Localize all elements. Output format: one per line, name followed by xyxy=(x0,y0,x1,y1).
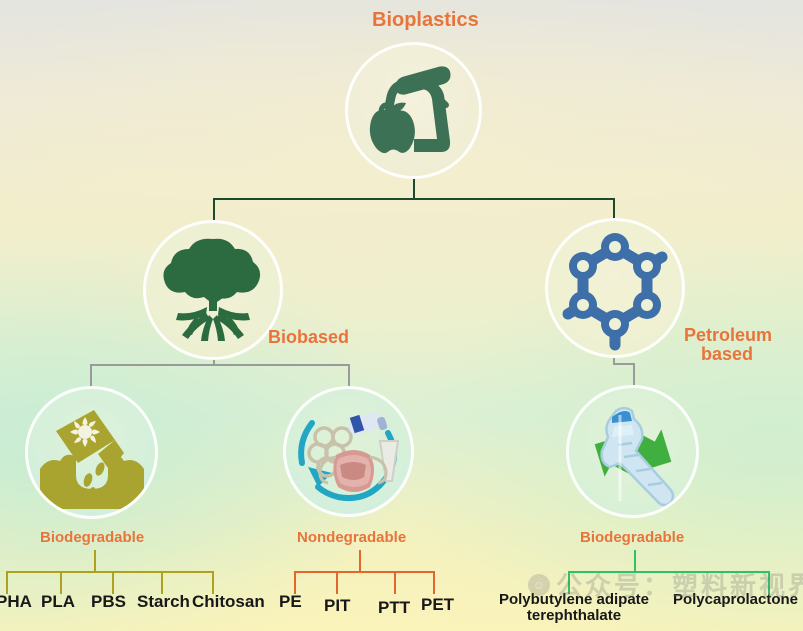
leaf-label: PHA xyxy=(0,593,32,611)
leaf-drop-pe xyxy=(294,571,296,594)
leaf-drop-pha xyxy=(6,571,8,594)
connector-root-stem xyxy=(413,178,415,200)
connector-to-biodegradable-biobased xyxy=(90,364,92,386)
bottle-recycle-icon xyxy=(574,393,692,511)
node-biobased[interactable] xyxy=(143,220,283,360)
benzene-molecule-icon xyxy=(552,225,678,351)
leaf-label: PTT xyxy=(378,599,410,617)
label-petroleum-based: Petroleum based xyxy=(684,326,770,365)
node-bioplastics[interactable] xyxy=(345,42,482,179)
tree-roots-icon xyxy=(152,229,274,351)
leaf-label: PLA xyxy=(41,593,75,611)
label-biodegradable-petroleum: Biodegradable xyxy=(580,530,684,546)
node-biodegradable-biobased[interactable] xyxy=(25,386,158,519)
leaf-bus-nondegradable xyxy=(294,571,434,573)
connector-petroleum-stem-b xyxy=(633,363,635,385)
label-nondegradable: Nondegradable xyxy=(297,530,406,546)
apple-bag-icon xyxy=(358,55,470,167)
node-biodegradable-petroleum[interactable] xyxy=(566,385,699,518)
leaf-label: Polybutylene adipate terephthalate xyxy=(484,592,664,624)
label-biodegradable-biobased: Biodegradable xyxy=(40,530,144,546)
leaf-drop-chitosan xyxy=(212,571,214,594)
leaf-stem-nondegradable xyxy=(359,550,361,572)
connector-to-biobased xyxy=(213,198,215,220)
leaf-label: PET xyxy=(421,596,454,614)
seed-bag-soil-icon xyxy=(36,397,148,509)
page-title: Bioplastics xyxy=(372,10,479,32)
leaf-stem-biodegradable-biobased xyxy=(94,550,96,572)
leaf-label: Polycaprolactone xyxy=(663,592,803,608)
node-nondegradable[interactable] xyxy=(283,386,414,517)
leaf-label: Chitosan xyxy=(192,593,265,611)
plastic-waste-recycle-icon xyxy=(290,393,408,511)
leaf-drop-starch xyxy=(161,571,163,594)
leaf-drop-pbs xyxy=(112,571,114,594)
diagram-canvas: Bioplastics xyxy=(0,0,803,631)
leaf-stem-biodegradable-petroleum xyxy=(634,550,636,572)
leaf-drop-pit xyxy=(336,571,338,594)
connector-to-petroleum xyxy=(613,198,615,220)
connector-level2-bus xyxy=(213,198,615,200)
leaf-bus-biodegradable-biobased xyxy=(6,571,214,573)
leaf-label: PIT xyxy=(324,597,350,615)
leaf-label: Starch xyxy=(137,593,190,611)
connector-to-nondegradable xyxy=(348,364,350,386)
leaf-bus-biodegradable-petroleum xyxy=(568,571,770,573)
leaf-drop-pla xyxy=(60,571,62,594)
leaf-label: PE xyxy=(279,593,302,611)
label-biobased: Biobased xyxy=(268,328,349,347)
connector-biobased-bus xyxy=(90,364,350,366)
node-petroleum-based[interactable] xyxy=(545,218,685,358)
connector-petroleum-step xyxy=(613,363,635,365)
leaf-label: PBS xyxy=(91,593,126,611)
leaf-drop-ptt xyxy=(394,571,396,594)
leaf-drop-pet xyxy=(433,571,435,594)
